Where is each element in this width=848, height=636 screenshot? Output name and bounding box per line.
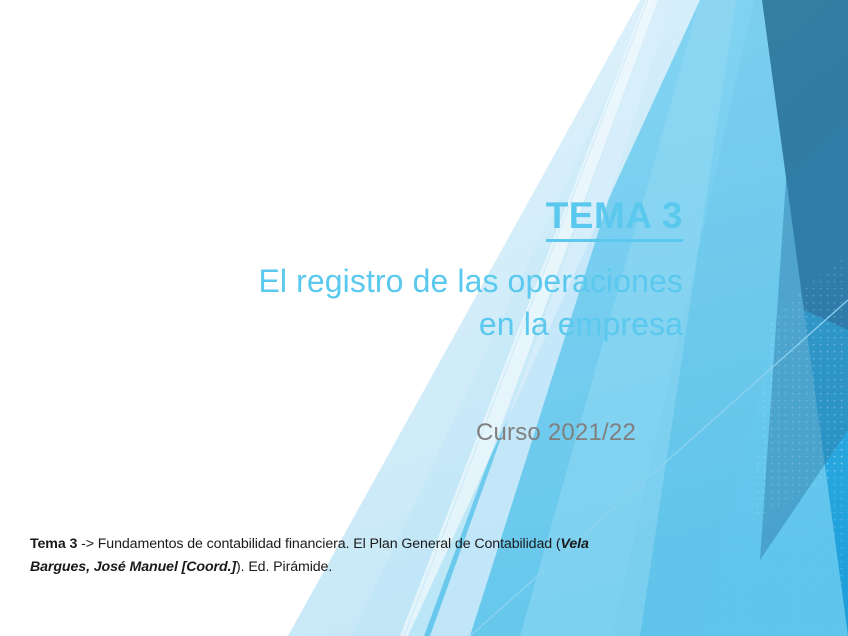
page-subtitle-line-2: en la empresa (150, 303, 683, 346)
hairline-diagonal (470, 300, 848, 636)
band-deep (746, 0, 848, 636)
presentation-slide: TEMA 3 El registro de las operaciones en… (0, 0, 848, 636)
course-year-label: Curso 2021/22 (150, 419, 636, 447)
citation-tail-text: ). Ed. Pirámide. (236, 559, 332, 575)
citation-body-text: -> Fundamentos de contabilidad financier… (77, 536, 560, 552)
band-azure (700, 300, 848, 636)
page-subtitle-line-1: El registro de las operaciones (150, 260, 683, 303)
page-subtitle: El registro de las operaciones en la emp… (150, 260, 683, 345)
band-steel-overlay (760, 120, 848, 560)
band-azure-upper-texture (752, 250, 848, 520)
title-block: TEMA 3 El registro de las operaciones en… (150, 196, 683, 345)
band-azure-texture (700, 300, 848, 636)
page-title: TEMA 3 (546, 196, 683, 242)
source-citation: Tema 3 -> Fundamentos de contabilidad fi… (30, 533, 590, 580)
citation-source-label: Tema 3 (30, 536, 77, 552)
